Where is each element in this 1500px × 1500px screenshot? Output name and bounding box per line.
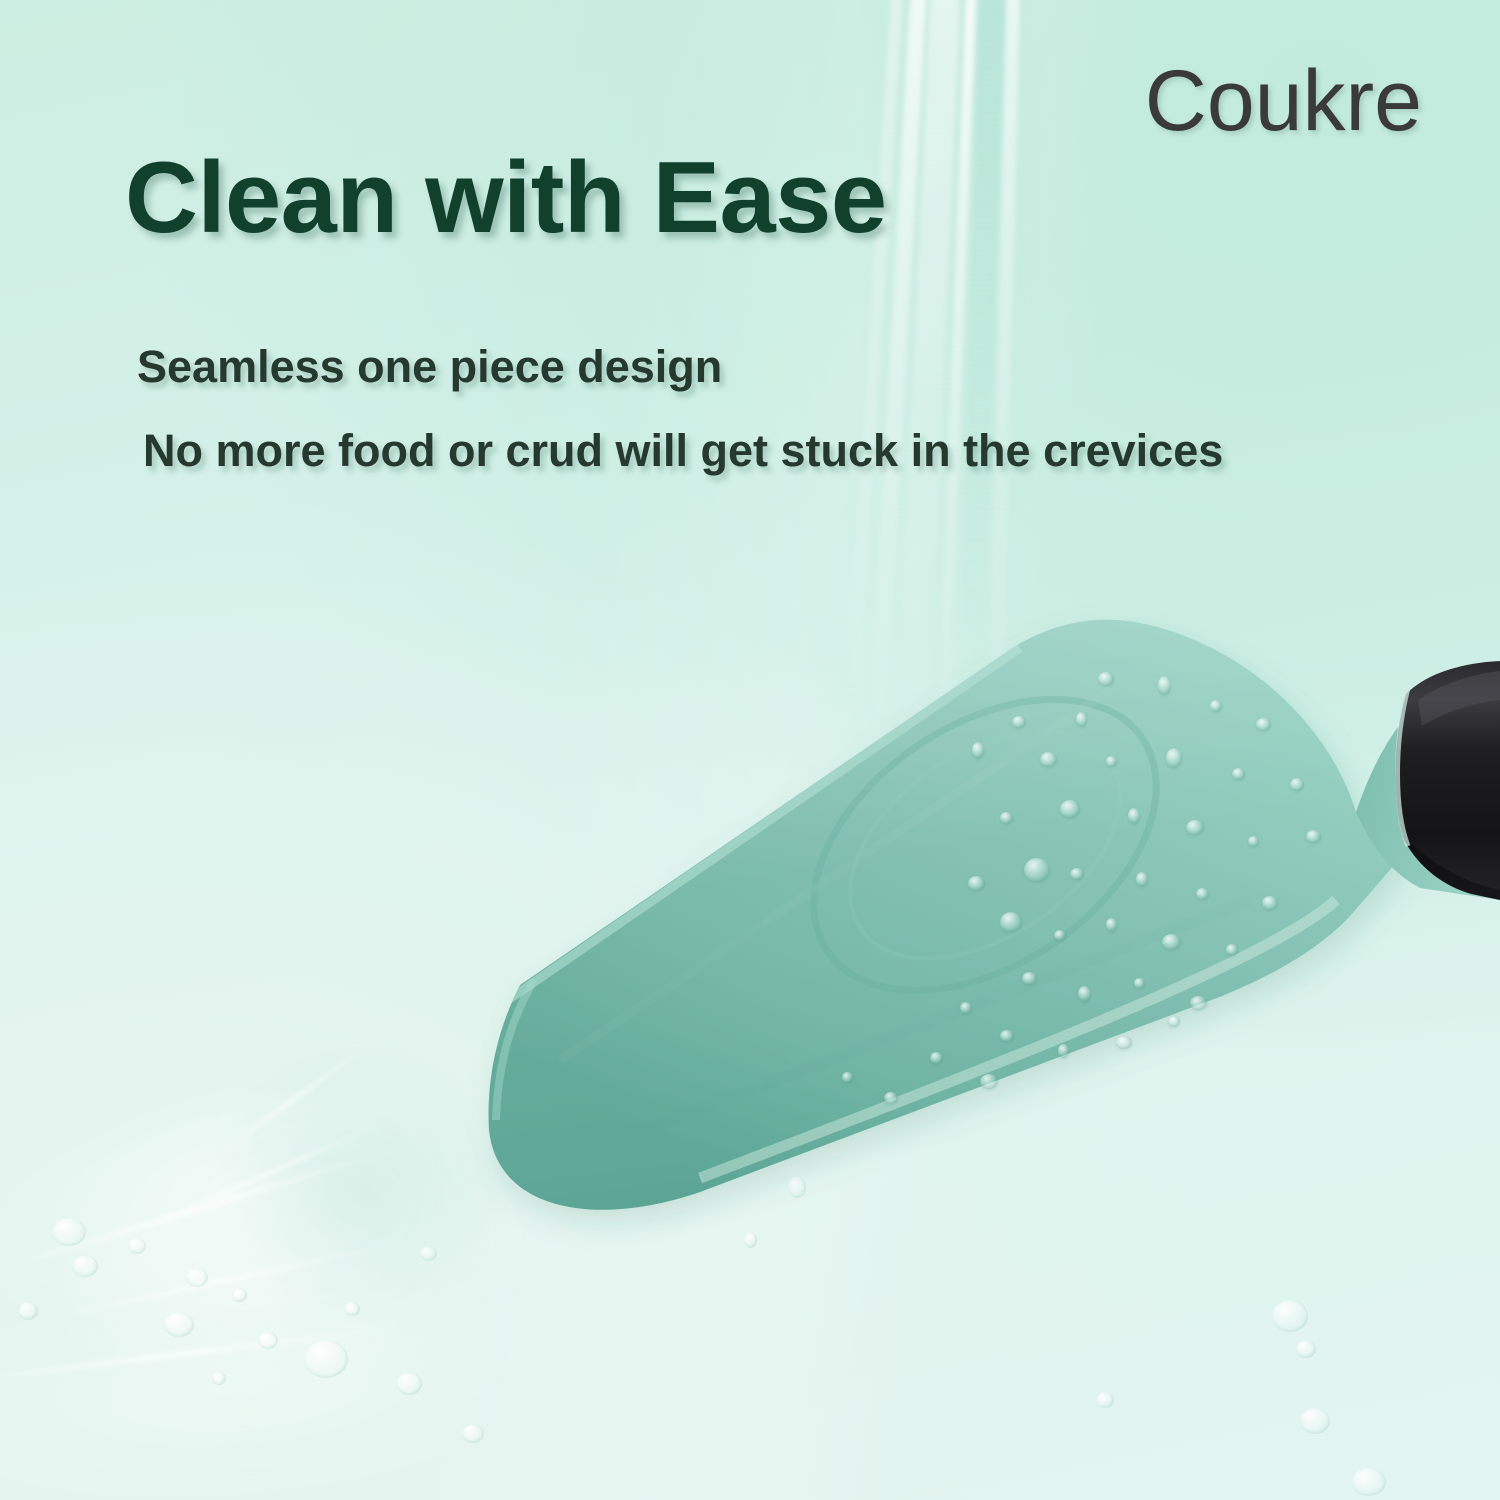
subheading-no-crevices: No more food or crud will get stuck in t… — [143, 428, 1223, 473]
page-title: Clean with Ease — [125, 148, 887, 249]
subheading-seamless-design: Seamless one piece design — [137, 344, 722, 389]
brand-logo-text: Coukre — [1145, 58, 1422, 144]
product-banner: Coukre Clean with Ease Seamless one piec… — [0, 0, 1500, 1500]
